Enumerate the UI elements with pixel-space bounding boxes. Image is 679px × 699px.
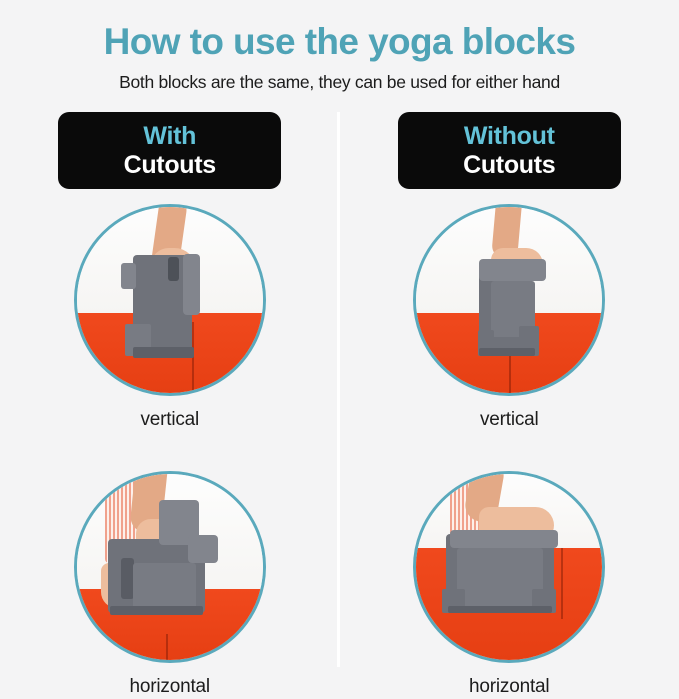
mat-seam [509, 352, 511, 393]
block-top-face [450, 530, 558, 549]
photo-with-cutouts-horizontal [74, 471, 266, 663]
badge-top-label: Without [464, 122, 555, 150]
photo-scene [77, 207, 263, 393]
block-base-shadow [448, 606, 552, 613]
photo-circle [413, 204, 605, 396]
badge-bottom-label: Cutouts [124, 150, 216, 180]
header: How to use the yoga blocks Both blocks a… [0, 0, 679, 93]
block-front-face [133, 563, 196, 611]
photo-circle [74, 471, 266, 663]
photo-scene [77, 474, 263, 660]
photo-circle [74, 204, 266, 396]
photo-circle [413, 471, 605, 663]
block-cutout-handle [168, 257, 179, 281]
block-base-shadow [479, 348, 535, 355]
mat-seam [166, 634, 168, 660]
column-without-cutouts: Without Cutouts [340, 112, 679, 699]
block-top-shelf [479, 259, 546, 281]
photo-with-cutouts-vertical [74, 204, 266, 396]
page-subtitle: Both blocks are the same, they can be us… [0, 64, 679, 93]
block-base-shadow [110, 606, 203, 615]
photo-without-cutouts-horizontal [413, 471, 605, 663]
block-side-tab [121, 263, 136, 289]
badge-with-cutouts: With Cutouts [58, 112, 281, 189]
badge-top-label: With [143, 122, 196, 150]
caption-without-cutouts-vertical: vertical [480, 408, 539, 432]
block-front-face [457, 548, 543, 608]
column-with-cutouts: With Cutouts [0, 112, 340, 699]
comparison-columns: With Cutouts [0, 112, 679, 699]
badge-bottom-label: Cutouts [463, 150, 555, 180]
block-top-right-lip [183, 254, 200, 315]
infographic-page: How to use the yoga blocks Both blocks a… [0, 0, 679, 679]
block-right-lip [188, 535, 218, 563]
caption-with-cutouts-vertical: vertical [140, 408, 199, 432]
photo-without-cutouts-vertical [413, 204, 605, 396]
badge-without-cutouts: Without Cutouts [398, 112, 621, 189]
block-shadow-base [133, 347, 194, 358]
page-title: How to use the yoga blocks [0, 0, 679, 64]
photo-scene [416, 207, 602, 393]
photo-scene [416, 474, 602, 660]
mat-seam [561, 548, 563, 619]
